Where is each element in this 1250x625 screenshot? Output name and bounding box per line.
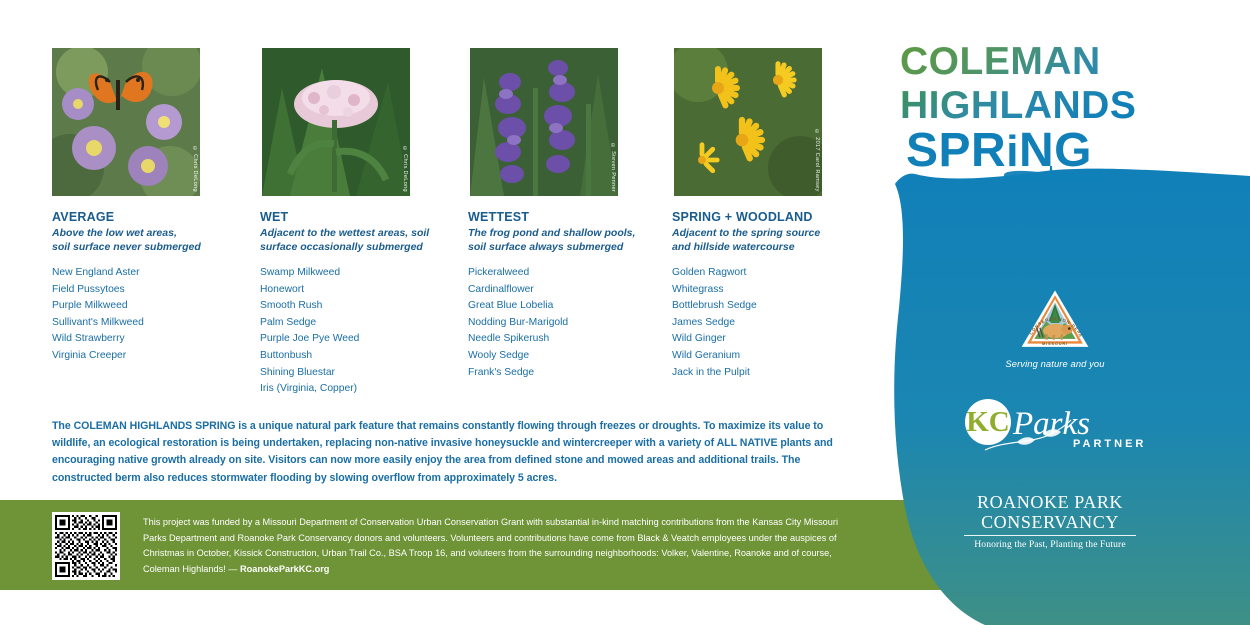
rpc-line-2: CONSERVANCY: [950, 512, 1150, 532]
photo-average: © Chris DeLong: [52, 48, 200, 196]
rpc-tagline: Honoring the Past, Planting the Future: [950, 539, 1150, 550]
rpc-line-1: ROANOKE PARK: [950, 492, 1150, 512]
zone-subtitle-line-2: surface occasionally submerged: [260, 241, 465, 255]
list-item: Wild Geranium: [672, 348, 887, 365]
kc-parks-partner-logo: KC Parks PARTNER: [955, 398, 1145, 456]
zone-title: WETTEST: [468, 210, 673, 224]
kc-monogram: KC: [966, 406, 1010, 438]
plant-list: Golden Ragwort Whitegrass Bottlebrush Se…: [672, 265, 887, 381]
zone-column-wet: WET Adjacent to the wettest areas, soil …: [260, 210, 465, 398]
list-item: Honewort: [260, 282, 465, 299]
plant-list: New England Aster Field Pussytoes Purple…: [52, 265, 257, 365]
zone-column-spring-woodland: SPRING + WOODLAND Adjacent to the spring…: [672, 210, 887, 381]
mdc-tagline: Serving nature and you: [985, 358, 1125, 369]
list-item: Iris (Virginia, Copper): [260, 381, 465, 398]
plant-list: Pickeralweed Cardinalflower Great Blue L…: [468, 265, 673, 381]
zone-subtitle-line-1: The frog pond and shallow pools,: [468, 227, 673, 241]
rpc-divider: [964, 535, 1136, 536]
photo-credit: © Steven Penner: [610, 143, 616, 192]
list-item: Wooly Sedge: [468, 348, 673, 365]
list-item: Swamp Milkweed: [260, 265, 465, 282]
qr-code[interactable]: [52, 512, 120, 580]
zone-subtitle-line-1: Adjacent to the spring source: [672, 227, 887, 241]
zone-subtitle-line-2: soil surface always submerged: [468, 241, 673, 255]
list-item: Pickeralweed: [468, 265, 673, 282]
zone-title: SPRING + WOODLAND: [672, 210, 887, 224]
photo-credit: © 2017 Carol Ramsey: [814, 129, 820, 192]
zone-subtitle: Adjacent to the spring source and hillsi…: [672, 227, 887, 254]
list-item: Needle Spikerush: [468, 331, 673, 348]
zone-title: WET: [260, 210, 465, 224]
list-item: Field Pussytoes: [52, 282, 257, 299]
zone-title: AVERAGE: [52, 210, 257, 224]
list-item: Whitegrass: [672, 282, 887, 299]
list-item: Frank's Sedge: [468, 365, 673, 382]
list-item: Golden Ragwort: [672, 265, 887, 282]
zone-subtitle-line-2: and hillside watercourse: [672, 241, 887, 255]
website-link[interactable]: RoanokeParkKC.org: [240, 564, 329, 574]
title-line-2: HIGHLANDS: [900, 84, 1136, 127]
page-title: COLEMAN HIGHLANDS SPRiNG: [900, 40, 1210, 180]
mdc-triangle-badge: MISSOURI CONSERVATION DEPARTMENT: [1019, 288, 1091, 350]
zone-subtitle-line-2: soil surface never submerged: [52, 241, 257, 255]
list-item: Bottlebrush Sedge: [672, 298, 887, 315]
photo-wettest: © Steven Penner: [470, 48, 618, 196]
zone-column-average: AVERAGE Above the low wet areas, soil su…: [52, 210, 257, 365]
list-item: Cardinalflower: [468, 282, 673, 299]
list-item: Virginia Creeper: [52, 348, 257, 365]
title-line-3: SPRiNG: [906, 124, 1092, 177]
zone-subtitle-line-1: Above the low wet areas,: [52, 227, 257, 241]
list-item: Great Blue Lobelia: [468, 298, 673, 315]
list-item: Purple Joe Pye Weed: [260, 331, 465, 348]
description-paragraph: The COLEMAN HIGHLANDS SPRING is a unique…: [52, 418, 842, 487]
mdc-logo: MISSOURI CONSERVATION DEPARTMENT Serving…: [985, 288, 1125, 369]
list-item: New England Aster: [52, 265, 257, 282]
photo-credit: © Chris DeLong: [192, 146, 198, 192]
photo-row: © Chris DeLong © Chris DeLong: [52, 48, 842, 196]
list-item: Wild Strawberry: [52, 331, 257, 348]
list-item: Buttonbush: [260, 348, 465, 365]
zone-subtitle: The frog pond and shallow pools, soil su…: [468, 227, 673, 254]
blue-water-panel: [855, 168, 1250, 625]
photo-wet: © Chris DeLong: [262, 48, 410, 196]
list-item: Wild Ginger: [672, 331, 887, 348]
photo-spring-woodland: © 2017 Carol Ramsey: [674, 48, 822, 196]
zone-subtitle: Adjacent to the wettest areas, soil surf…: [260, 227, 465, 254]
list-item: Palm Sedge: [260, 315, 465, 332]
kc-partner-word: PARTNER: [1073, 438, 1145, 450]
list-item: Sullivant's Milkweed: [52, 315, 257, 332]
title-line-1: COLEMAN: [900, 40, 1101, 83]
list-item: Smooth Rush: [260, 298, 465, 315]
list-item: Purple Milkweed: [52, 298, 257, 315]
zone-column-wettest: WETTEST The frog pond and shallow pools,…: [468, 210, 673, 381]
list-item: James Sedge: [672, 315, 887, 332]
zone-subtitle-line-1: Adjacent to the wettest areas, soil: [260, 227, 465, 241]
plant-list: Swamp Milkweed Honewort Smooth Rush Palm…: [260, 265, 465, 398]
photo-credit: © Chris DeLong: [402, 146, 408, 192]
poster-canvas: COLEMAN HIGHLANDS SPRiNG: [0, 0, 1250, 625]
mdc-base-word: MISSOURI: [1042, 341, 1068, 346]
list-item: Nodding Bur-Marigold: [468, 315, 673, 332]
roanoke-park-conservancy-logo: ROANOKE PARK CONSERVANCY Honoring the Pa…: [950, 492, 1150, 550]
zone-subtitle: Above the low wet areas, soil surface ne…: [52, 227, 257, 254]
funding-credit-paragraph: This project was funded by a Missouri De…: [143, 515, 843, 577]
list-item: Shining Bluestar: [260, 365, 465, 382]
list-item: Jack in the Pulpit: [672, 365, 887, 382]
